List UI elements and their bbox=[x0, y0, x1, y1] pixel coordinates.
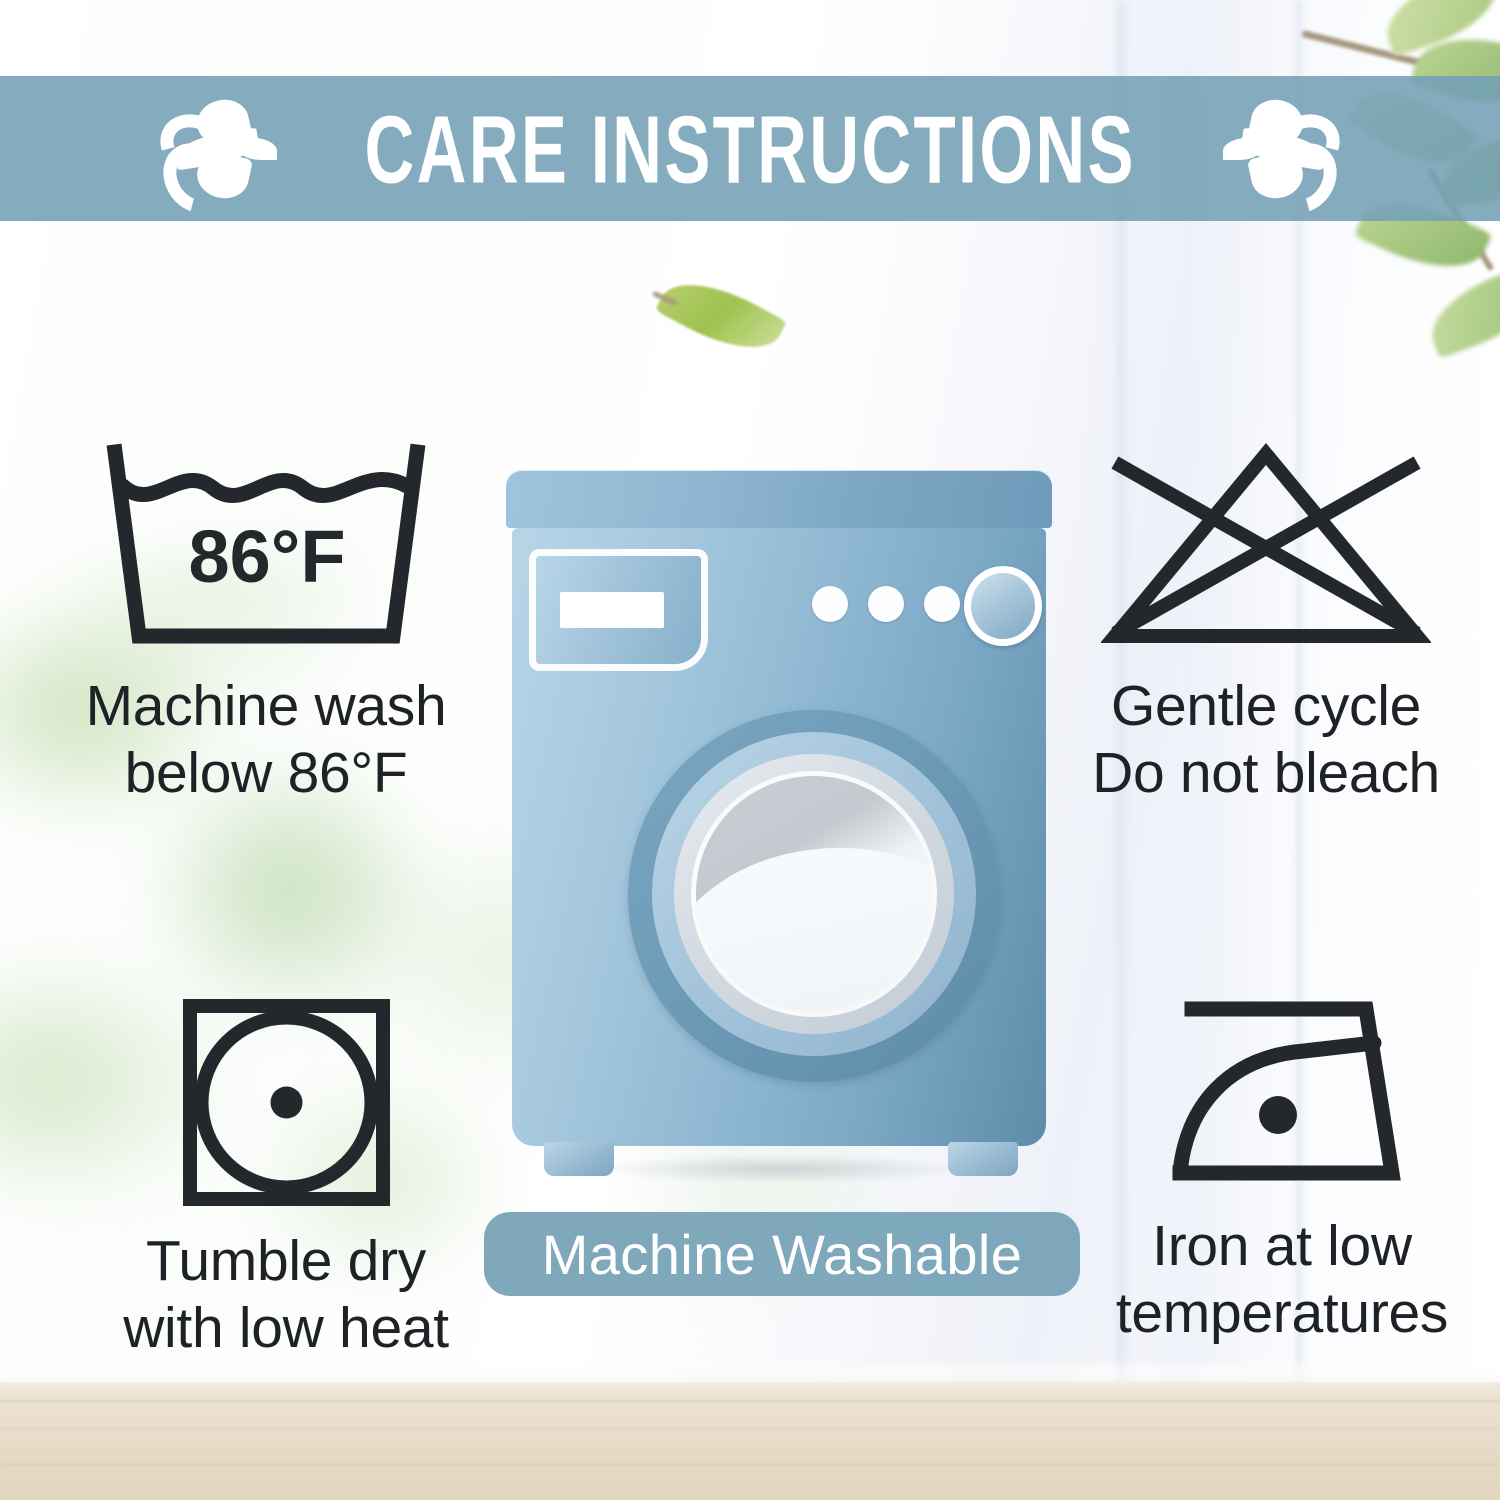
care-symbol-machine-wash: 86°F Machine wash below 86°F bbox=[56, 440, 476, 808]
control-knob bbox=[964, 566, 1042, 646]
care-symbol-caption: Iron at low temperatures bbox=[1116, 1213, 1448, 1348]
machine-washable-badge: Machine Washable bbox=[484, 1212, 1080, 1296]
detergent-drawer bbox=[536, 556, 701, 664]
header-banner: CARE INSTRUCTIONS bbox=[0, 76, 1500, 221]
washer-door-rim bbox=[674, 754, 954, 1034]
page-title: CARE INSTRUCTIONS bbox=[364, 93, 1135, 203]
washer-door-glass bbox=[696, 776, 932, 1012]
iron-heat-dot bbox=[1259, 1096, 1297, 1134]
care-symbol-caption: Machine wash below 86°F bbox=[86, 673, 447, 808]
fleur-de-lis-icon-right bbox=[1209, 94, 1349, 204]
indicator-dot bbox=[812, 586, 848, 622]
indicator-dot bbox=[924, 586, 960, 622]
care-symbol-caption: Tumble dry with low heat bbox=[123, 1228, 449, 1363]
indicator-dot bbox=[868, 586, 904, 622]
status-badge-label: Machine Washable bbox=[542, 1222, 1023, 1287]
indicator-dots bbox=[812, 586, 960, 622]
care-symbol-caption: Gentle cycle Do not bleach bbox=[1092, 673, 1440, 808]
tumble-dry-low-icon bbox=[179, 995, 394, 1210]
care-symbol-tumble-dry: Tumble dry with low heat bbox=[86, 995, 486, 1363]
iron-one-dot-icon bbox=[1152, 995, 1412, 1195]
washer-door bbox=[628, 710, 1000, 1082]
leaf-sprig-right bbox=[1330, 196, 1500, 436]
washer-door-glass-highlight bbox=[696, 816, 932, 1012]
triangle-crossed-icon bbox=[1101, 440, 1431, 655]
tumble-dry-heat-dot bbox=[270, 1087, 302, 1119]
washer-foot-left bbox=[544, 1142, 614, 1176]
washer-foot-right bbox=[948, 1142, 1018, 1176]
washer-body bbox=[512, 528, 1046, 1146]
care-symbol-iron-low: Iron at low temperatures bbox=[1072, 995, 1492, 1348]
wash-temperature-label: 86°F bbox=[188, 515, 345, 598]
fleur-de-lis-icon-left bbox=[151, 94, 291, 204]
wooden-floor bbox=[0, 1382, 1500, 1500]
care-instructions-infographic: CARE INSTRUCTIONS 86°F Machine wash belo… bbox=[0, 0, 1500, 1500]
washing-machine-illustration bbox=[496, 470, 1062, 1170]
care-symbol-do-not-bleach: Gentle cycle Do not bleach bbox=[1046, 440, 1486, 808]
detergent-drawer-slot bbox=[560, 592, 664, 628]
washer-lid bbox=[506, 470, 1052, 528]
wash-tub-icon: 86°F bbox=[101, 440, 431, 655]
washer-door-ring bbox=[652, 732, 976, 1056]
